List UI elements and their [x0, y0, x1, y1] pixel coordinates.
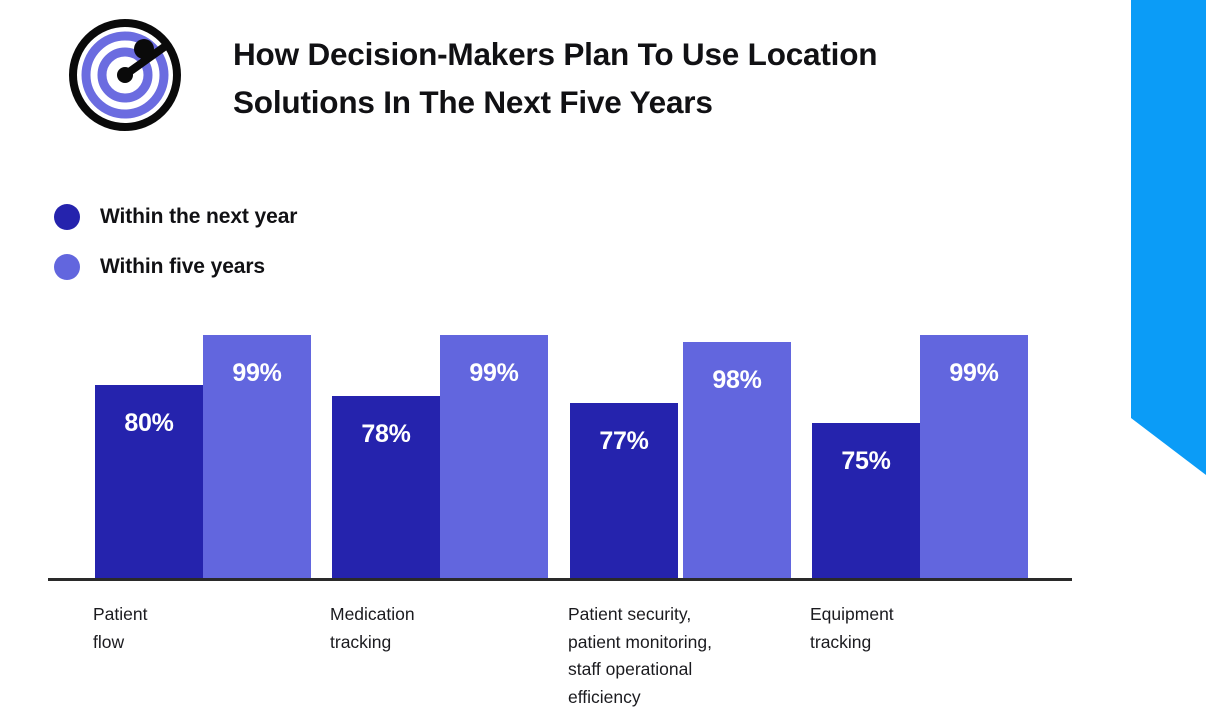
infographic-page: How Decision-Makers Plan To Use Location… — [0, 0, 1206, 724]
bar-value-label: 99% — [920, 359, 1028, 388]
bar[interactable]: 80% — [95, 385, 203, 578]
bar-value-label: 78% — [332, 420, 440, 449]
bar-value-label: 99% — [440, 359, 548, 388]
bar-chart-plot: 80%99%78%99%77%98%75%99% Patient flowMed… — [0, 0, 1206, 724]
bar-value-label: 98% — [683, 366, 791, 395]
bar[interactable]: 99% — [440, 335, 548, 578]
bar[interactable]: 78% — [332, 396, 440, 578]
bar[interactable]: 77% — [570, 403, 678, 578]
bar[interactable]: 98% — [683, 342, 791, 578]
category-label: Equipment tracking — [810, 601, 894, 656]
category-label: Patient security, patient monitoring, st… — [568, 601, 712, 712]
category-label: Medication tracking — [330, 601, 415, 656]
bar[interactable]: 99% — [203, 335, 311, 578]
bar-value-label: 80% — [95, 409, 203, 438]
x-axis-line — [48, 578, 1072, 581]
bar-value-label: 77% — [570, 427, 678, 456]
bar-value-label: 75% — [812, 447, 920, 476]
bar-value-label: 99% — [203, 359, 311, 388]
bar[interactable]: 75% — [812, 423, 920, 578]
category-label: Patient flow — [93, 601, 147, 656]
bar[interactable]: 99% — [920, 335, 1028, 578]
